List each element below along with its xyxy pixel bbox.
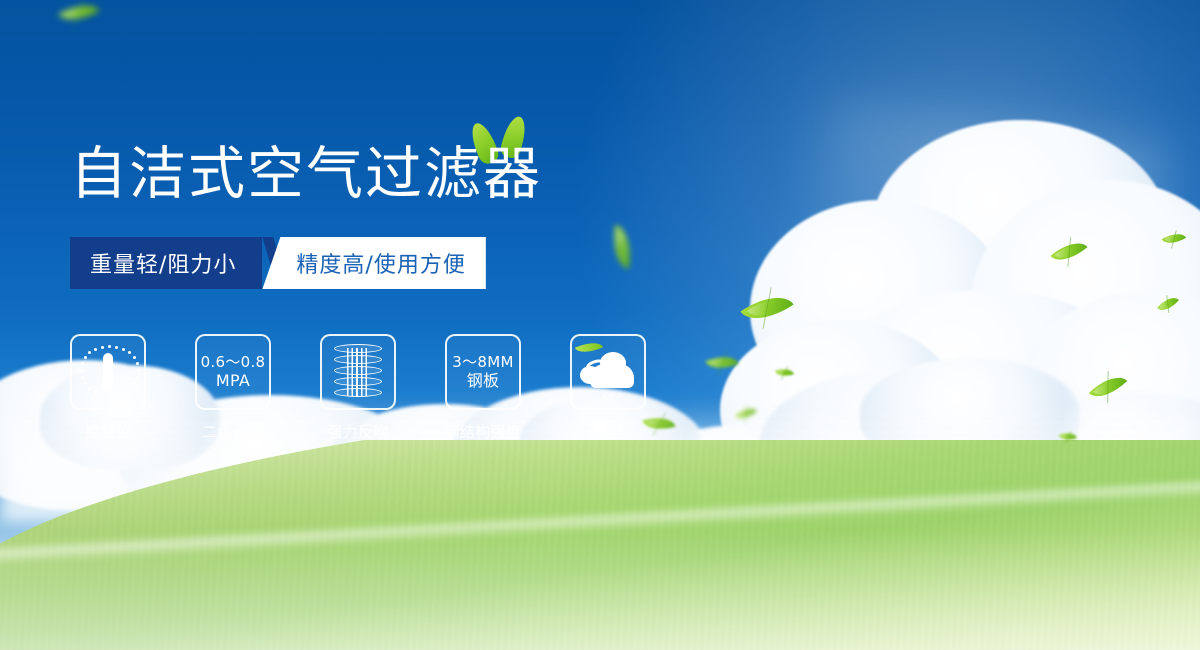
feature-icon-box: NO OFF (70, 334, 146, 410)
subtitle-banner: 重量轻/阻力小 精度高/使用方便 (70, 237, 486, 289)
hero-banner: 自洁式空气过滤器 重量轻/阻力小 精度高/使用方便 (0, 0, 1200, 650)
subtitle-right-text: 精度高/使用方便 (262, 237, 485, 289)
pressure-text-icon: 0.6～0.8 MPA (201, 353, 266, 391)
feature-icon-row: NO OFF 控制仪 0.6～0.8 MPA 二级过滤 (70, 334, 646, 442)
gauge-controller-icon: NO OFF (77, 343, 139, 401)
feature-item-controller[interactable]: NO OFF 控制仪 (70, 334, 146, 442)
steel-material: 钢板 (452, 371, 513, 391)
pressure-unit: MPA (201, 371, 266, 391)
feature-label: 钢结构强度 (444, 421, 522, 442)
feature-icon-box: Air (570, 334, 646, 410)
pressure-value: 0.6～0.8 (201, 353, 266, 371)
cloud-leaf-accent (575, 337, 603, 358)
feature-item-pressure[interactable]: 0.6～0.8 MPA 二级过滤 (195, 334, 271, 442)
subtitle-left-text: 重量轻/阻力小 (70, 237, 262, 289)
feature-label: 二级过滤 (202, 421, 264, 442)
feature-label: 强力反吹 (327, 421, 389, 442)
page-title: 自洁式空气过滤器 (70, 143, 542, 207)
feature-item-blowback[interactable]: 强力反吹 (320, 334, 396, 442)
feature-icon-box: 0.6～0.8 MPA (195, 334, 271, 410)
feature-item-dust[interactable]: Air 集尘 (570, 334, 646, 442)
gauge-off-label: OFF (127, 387, 140, 393)
feature-icon-box (320, 334, 396, 410)
steel-plate-text-icon: 3～8MM 钢板 (452, 353, 513, 391)
filter-cartridge-icon (334, 344, 382, 400)
feature-label: 集尘 (592, 421, 623, 442)
gauge-no-label: NO (76, 369, 86, 375)
air-label: Air (580, 393, 636, 404)
grass-field (0, 440, 1200, 650)
feature-label: 控制仪 (85, 421, 132, 442)
feature-icon-box: 3～8MM 钢板 (445, 334, 521, 410)
feature-item-steel[interactable]: 3～8MM 钢板 钢结构强度 (445, 334, 521, 442)
steel-thickness: 3～8MM (452, 353, 513, 371)
air-cloud-icon: Air (580, 352, 636, 392)
